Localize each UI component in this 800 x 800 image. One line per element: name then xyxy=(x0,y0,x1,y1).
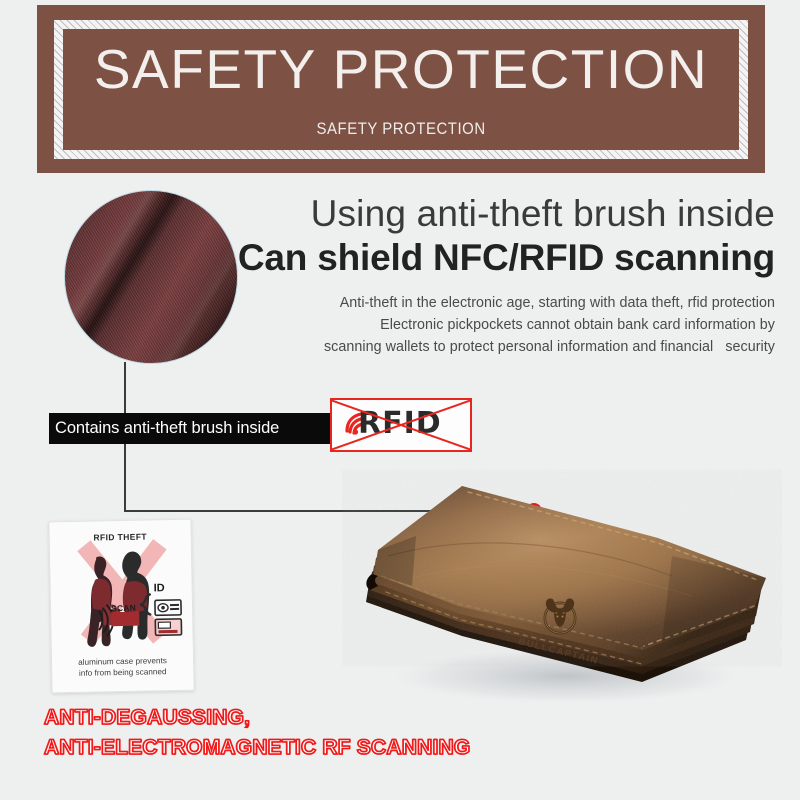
body-line-1: Anti-theft in the electronic age, starti… xyxy=(215,292,775,314)
theft-card-footer-line-2: info from being scanned xyxy=(52,666,193,680)
theft-card-illustration xyxy=(50,538,193,651)
heading-line-2: Can shield NFC/RFID scanning xyxy=(215,236,775,280)
heading-line-1: Using anti-theft brush inside xyxy=(215,193,775,234)
wallet-product-photo: BULLCAPTAIN xyxy=(336,418,800,728)
callout-label-text: Contains anti-theft brush inside xyxy=(49,419,279,438)
fabric-closeup-circle xyxy=(64,190,238,364)
banner-inner-panel: SAFETY PROTECTION SAFETY PROTECTION xyxy=(63,29,739,150)
bottom-red-line-2: ANTI-ELECTROMAGNETIC RF SCANNING xyxy=(44,733,470,763)
wallet-illustration: BULLCAPTAIN xyxy=(342,426,782,716)
body-line-3: scanning wallets to protect personal inf… xyxy=(215,336,775,358)
bottom-red-line-1: ANTI-DEGAUSSING, xyxy=(44,703,470,733)
fabric-fold-shading xyxy=(65,191,237,363)
banner-hatched-frame: SAFETY PROTECTION SAFETY PROTECTION xyxy=(54,20,748,159)
bottom-red-headline: ANTI-DEGAUSSING, ANTI-ELECTROMAGNETIC RF… xyxy=(44,703,470,764)
body-line-2: Electronic pickpockets cannot obtain ban… xyxy=(215,314,775,336)
banner-subtitle: SAFETY PROTECTION xyxy=(316,119,485,139)
theft-card-id-label: ID xyxy=(154,582,165,594)
product-infographic: SAFETY PROTECTION SAFETY PROTECTION Usin… xyxy=(0,0,800,800)
header-banner: SAFETY PROTECTION SAFETY PROTECTION xyxy=(37,5,765,173)
theft-card-footer: aluminum case prevents info from being s… xyxy=(52,654,193,680)
callout-label-bar: Contains anti-theft brush inside xyxy=(49,413,330,444)
theft-card-scan-label: SCAN xyxy=(111,603,136,614)
heading-block: Using anti-theft brush inside Can shield… xyxy=(215,193,775,359)
heading-body: Anti-theft in the electronic age, starti… xyxy=(215,292,775,358)
banner-title: SAFETY PROTECTION xyxy=(94,42,708,97)
rfid-theft-card: RFID THEFT xyxy=(48,519,194,694)
